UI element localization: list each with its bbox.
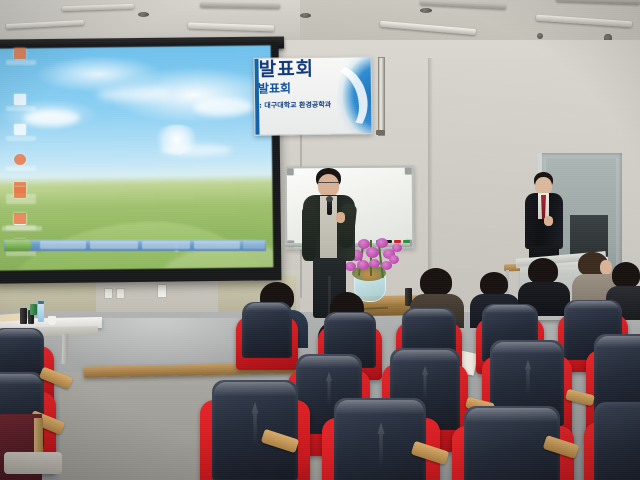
desktop-icon-label	[6, 60, 36, 65]
seat-gloss-highlight	[566, 301, 620, 315]
seat-back-panel	[594, 402, 640, 480]
desktop-icon-browser-icon	[14, 154, 26, 165]
whiteboard-corner	[287, 168, 294, 175]
beverage-can	[30, 304, 37, 315]
orchid-stem	[370, 240, 372, 276]
desktop-icon-label	[6, 199, 36, 204]
wallpaper-cloud	[97, 87, 171, 102]
desktop-icon-pdf-file-icon	[14, 213, 26, 224]
desktop-icon-label	[6, 136, 36, 141]
floor-base-plate	[4, 452, 62, 474]
taskbar-button[interactable]	[194, 241, 240, 249]
seat-gloss-highlight	[492, 342, 562, 362]
seat-gloss-highlight	[404, 309, 454, 323]
banner-title-primary: 발표회	[259, 60, 315, 80]
coffee-can	[20, 308, 27, 324]
system-tray[interactable]	[243, 241, 265, 249]
side-table-leg	[61, 334, 68, 364]
presenter-glasses-icon	[318, 182, 339, 186]
wall-outlet-icon	[104, 288, 113, 299]
wall-thermometer-base	[376, 130, 385, 135]
seat-gloss-highlight	[484, 305, 536, 319]
banner-subtitle: : 대구대학교 환경공학과	[259, 102, 331, 110]
whiteboard-marker-icon	[403, 240, 410, 243]
desktop-icon-word-file-icon	[14, 94, 26, 105]
desktop-icon-grid	[6, 48, 52, 248]
paper-cup	[48, 316, 56, 325]
attendee-hair	[480, 272, 508, 296]
taskbar-button[interactable]	[142, 241, 190, 249]
attendee-hair	[612, 262, 640, 288]
desktop-icon-label	[6, 106, 36, 111]
orchid-bloom	[376, 238, 388, 248]
seminar-hall-photo: 발표회 발표회 : 대구대학교 환경공학과	[0, 0, 640, 480]
presenter-arm-left	[302, 206, 316, 260]
ceiling-sensor-icon	[537, 33, 543, 39]
second-speaker-hand	[544, 216, 553, 226]
seat-gloss-highlight	[0, 374, 42, 392]
taskbar-button[interactable]	[90, 241, 138, 249]
desktop-icon-label	[6, 251, 36, 256]
desktop-icon-label	[6, 166, 36, 171]
seat-gloss-highlight	[466, 408, 558, 432]
desktop-icon-word-file-icon	[14, 124, 26, 135]
orchid-bloom	[389, 255, 399, 264]
ceiling-speaker-icon	[138, 12, 149, 17]
wall-outlet-icon	[116, 288, 125, 299]
desktop-icon-label	[6, 225, 36, 230]
desktop-icon-excel-file-icon	[14, 48, 26, 59]
ceiling-speaker-icon	[420, 8, 432, 13]
seat-gloss-highlight	[336, 400, 424, 424]
water-bottle	[38, 303, 44, 322]
wallpaper-cloud	[160, 144, 232, 157]
orchid-bloom	[369, 259, 380, 268]
seat-gloss-highlight	[0, 329, 42, 345]
desktop-icon-shortcut-icon	[14, 187, 26, 198]
attendee-head	[600, 260, 612, 275]
wall-switch-icon	[157, 284, 167, 298]
bottle-cap	[38, 301, 44, 304]
microphone-head	[326, 196, 333, 202]
second-speaker	[524, 172, 566, 264]
orchid-bloom	[392, 244, 402, 252]
presenter-hand	[336, 212, 345, 223]
seat-gloss-highlight	[596, 336, 640, 356]
wall-thermometer-icon	[378, 57, 385, 136]
orchid-bloom	[366, 247, 379, 258]
seat-gloss-highlight	[244, 303, 290, 317]
start-button[interactable]	[5, 240, 31, 251]
attendee-hair	[420, 268, 452, 296]
ceiling-speaker-icon	[300, 13, 311, 18]
banner-title-secondary: 발표회	[258, 82, 291, 94]
attendee-hair	[528, 258, 558, 284]
desktop-icon-grid-lower	[6, 225, 52, 295]
whiteboard-corner	[405, 168, 412, 175]
whiteboard-marker-icon	[394, 240, 401, 243]
wallpaper-cloud	[193, 98, 253, 117]
seat-gloss-highlight	[326, 313, 374, 327]
event-banner: 발표회 발표회 : 대구대학교 환경공학과	[253, 56, 372, 136]
taskbar-button[interactable]	[40, 241, 86, 249]
